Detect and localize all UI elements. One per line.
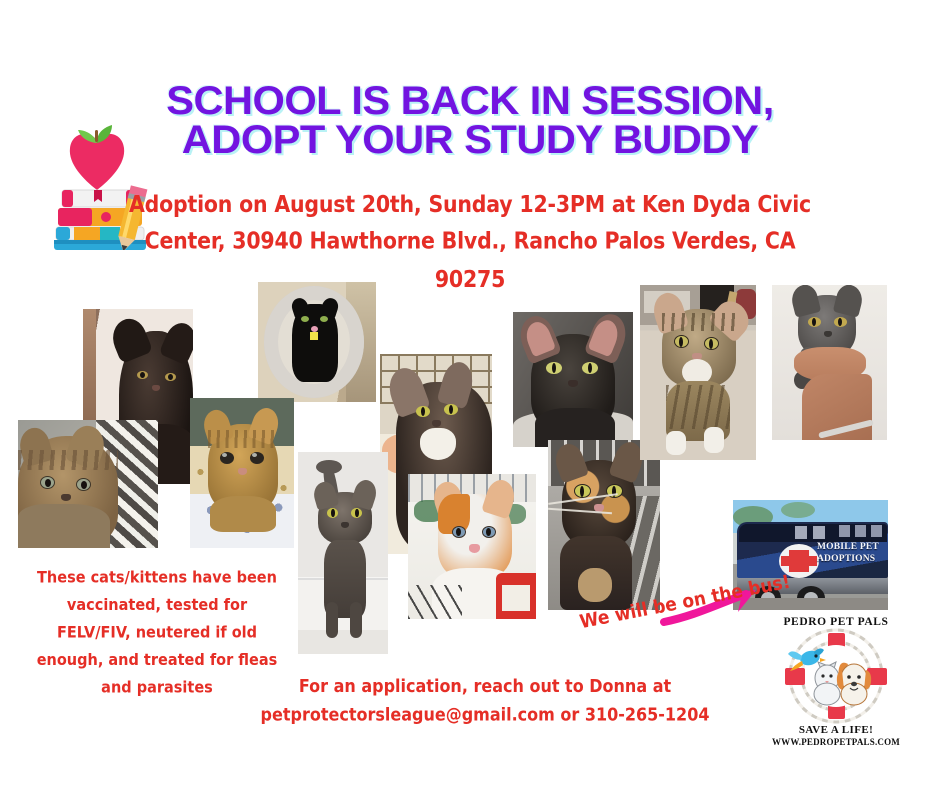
page-title: SCHOOL IS BACK IN SESSION, ADOPT YOUR ST… bbox=[0, 82, 940, 160]
logo-tagline: SAVE A LIFE! bbox=[762, 724, 910, 736]
photo-black-cat-in-tunnel bbox=[258, 282, 376, 402]
application-note-text: For an application, reach out to Donna a… bbox=[245, 672, 725, 729]
logo-title: PEDRO PET PALS bbox=[762, 616, 910, 628]
bus-caption: MOBILE PETADOPTIONS bbox=[817, 542, 883, 566]
photo-black-kitten-on-couch bbox=[513, 312, 633, 447]
photo-gray-cat-standing bbox=[298, 452, 388, 654]
photo-tortie-cat-in-crate bbox=[548, 440, 660, 610]
photo-tabby-kitten-on-carpet bbox=[640, 285, 756, 460]
flyer-canvas: SCHOOL IS BACK IN SESSION, ADOPT YOUR ST… bbox=[0, 0, 940, 788]
photo-tabby-kitten-on-blanket bbox=[18, 420, 158, 548]
photo-orange-white-kitten bbox=[408, 474, 536, 619]
photo-gray-kitten-held-in-hand bbox=[772, 285, 887, 440]
logo-url: WWW.PEDROPETPALS.COM bbox=[762, 737, 910, 747]
event-details-text: Adoption on August 20th, Sunday 12-3PM a… bbox=[118, 186, 822, 298]
pedro-pet-pals-logo: PEDRO PET PALS bbox=[762, 616, 910, 756]
photo-tabby-kitten-on-bed bbox=[190, 398, 294, 548]
